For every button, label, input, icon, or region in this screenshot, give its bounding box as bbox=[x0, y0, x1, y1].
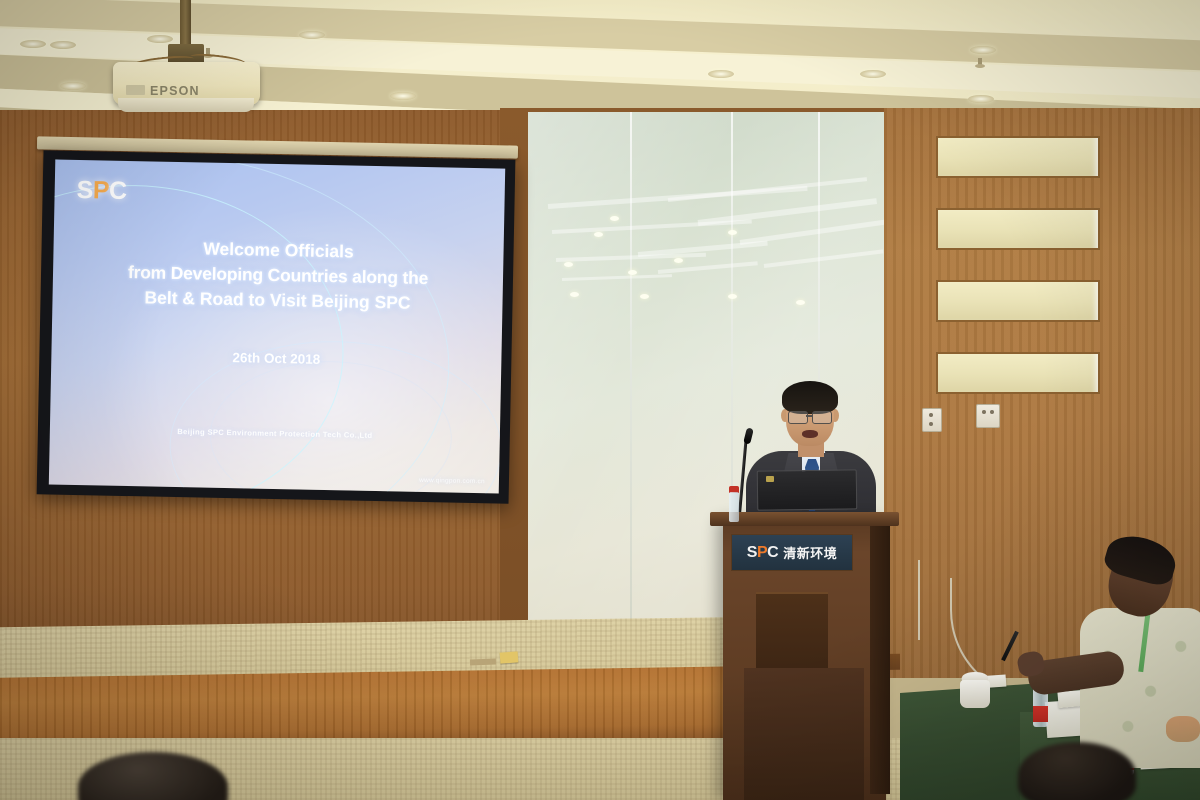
slide-website-url: www.qingpon.com.cn bbox=[419, 477, 485, 485]
hanging-cable bbox=[918, 560, 920, 640]
podium-brand-sign: SPC 清新环境 bbox=[731, 534, 853, 571]
slide-logo-p: P bbox=[93, 176, 110, 204]
downlight-icon bbox=[860, 70, 886, 78]
stage-floor-card bbox=[500, 651, 519, 663]
podium-sign-logo: SPC bbox=[747, 544, 778, 562]
water-bottle bbox=[729, 492, 739, 522]
wall-socket[interactable] bbox=[922, 408, 942, 432]
projection-screen-frame: SPC Welcome Officials from Developing Co… bbox=[37, 150, 516, 503]
podium-side-panel bbox=[870, 524, 890, 794]
sprinkler-icon bbox=[975, 58, 985, 70]
podium-panel-inset bbox=[756, 592, 828, 668]
podium-logo-c: C bbox=[767, 544, 778, 561]
stage-floor-plate bbox=[470, 659, 496, 666]
downlight-icon bbox=[50, 41, 76, 49]
podium-logo-p: P bbox=[757, 544, 767, 561]
glasses-bridge bbox=[806, 415, 812, 417]
downlight-icon bbox=[390, 92, 416, 100]
downlight-icon bbox=[299, 31, 325, 39]
slide-spc-logo: SPC bbox=[76, 178, 126, 204]
glasses-icon bbox=[788, 411, 808, 424]
downlight-icon bbox=[20, 40, 46, 48]
projector-mount-pole bbox=[180, 0, 191, 48]
slide-logo-c: C bbox=[109, 177, 127, 205]
podium-lower-body bbox=[744, 668, 864, 800]
conference-room-photo: EPSON SPC Welcome Officials from Develop… bbox=[0, 0, 1200, 800]
wall-glass-panel bbox=[936, 352, 1100, 394]
wall-glass-panel bbox=[936, 208, 1100, 250]
wall-glass-panel bbox=[936, 280, 1100, 322]
socket-hole bbox=[990, 410, 994, 414]
downlight-icon bbox=[60, 82, 86, 90]
podium-sign-chinese-name: 清新环境 bbox=[783, 543, 837, 562]
slide-logo-s: S bbox=[76, 176, 93, 204]
downlight-icon bbox=[147, 35, 173, 43]
socket-hole bbox=[982, 410, 986, 414]
projector-brand-label: EPSON bbox=[150, 84, 200, 98]
socket-hole bbox=[929, 413, 933, 417]
socket-hole bbox=[929, 422, 933, 426]
foreground-audience-head bbox=[1018, 742, 1136, 800]
wall-glass-panel bbox=[936, 136, 1100, 178]
tea-cup bbox=[960, 680, 990, 708]
projector-lens-housing bbox=[118, 98, 254, 112]
podium-logo-s: S bbox=[747, 544, 757, 561]
presenter-hair bbox=[782, 381, 838, 414]
neighbour-hand bbox=[1166, 716, 1200, 742]
downlight-icon bbox=[970, 46, 996, 54]
presenter-mouth bbox=[802, 430, 818, 438]
glasses-icon bbox=[812, 411, 832, 424]
bottle-label bbox=[1033, 706, 1048, 722]
laptop-logo bbox=[766, 476, 774, 482]
downlight-icon bbox=[708, 70, 734, 78]
slide-title: Welcome Officials from Developing Countr… bbox=[52, 234, 503, 318]
projection-screen: SPC Welcome Officials from Developing Co… bbox=[49, 160, 505, 494]
projector-badge bbox=[126, 85, 145, 95]
wall-socket[interactable] bbox=[976, 404, 1000, 428]
downlight-icon bbox=[968, 95, 994, 103]
